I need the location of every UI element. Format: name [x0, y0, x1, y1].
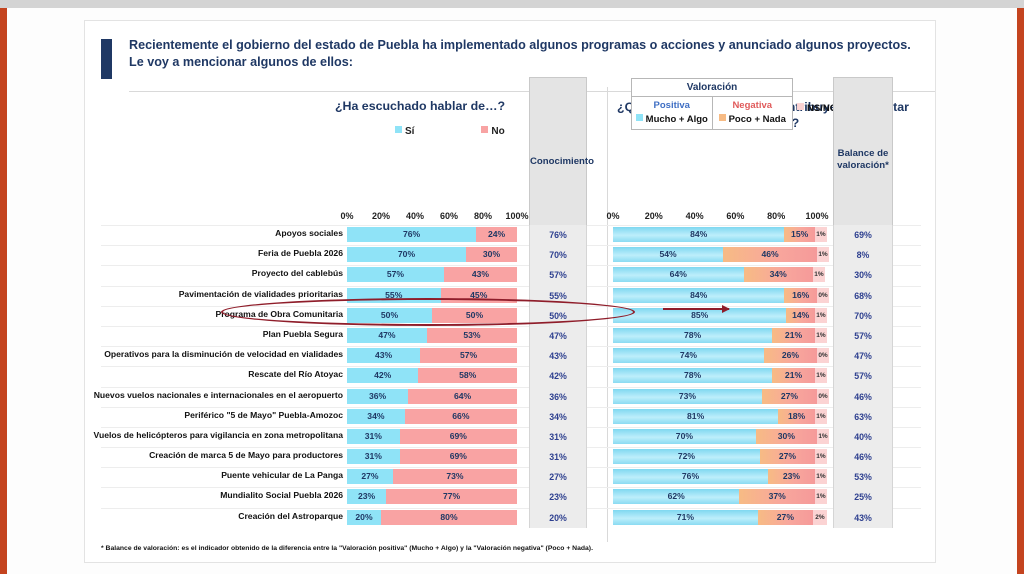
cell-conocimiento: 31% [529, 447, 587, 467]
row-divider [101, 346, 921, 347]
bar-valoracion: 62%37%1% [613, 489, 817, 504]
bar-segment-no: 73% [393, 469, 517, 484]
row-label: Creación de marca 5 de Mayo para product… [93, 450, 343, 460]
row-label: Creación del Astroparque [93, 511, 343, 521]
row-label: Vuelos de helicópteros para vigilancia e… [93, 430, 343, 440]
bar-segment-negativa: 37% [739, 489, 814, 504]
row-divider [101, 286, 921, 287]
valoracion-legend-box: Valoración Positiva Mucho + Algo Negativ… [631, 78, 793, 130]
cell-conocimiento: 47% [529, 326, 587, 346]
row-divider [101, 245, 921, 246]
bar-valoracion: 76%23%1% [613, 469, 817, 484]
legend-label-si: Sí [405, 126, 414, 137]
table-row: Plan Puebla Segura47%53%47%78%21%1%57% [85, 326, 937, 346]
cell-balance: 40% [833, 427, 893, 447]
bar-segment-nsnc: 1% [815, 489, 827, 504]
legend-item-si: Sí [395, 126, 414, 137]
bar-valoracion: 71%27%2% [613, 510, 817, 525]
slide: Recientemente el gobierno del estado de … [84, 20, 936, 563]
cell-balance: 57% [833, 366, 893, 386]
bar-segment-no: 30% [466, 247, 517, 262]
bar-segment-positiva: 54% [613, 247, 723, 262]
bar-segment-positiva: 70% [613, 429, 756, 444]
bar-segment-negativa: 16% [784, 288, 817, 303]
cell-balance: 53% [833, 467, 893, 487]
cell-conocimiento: 34% [529, 407, 587, 427]
row-divider [101, 326, 921, 327]
cell-balance: 57% [833, 326, 893, 346]
axis-tick: 40% [686, 211, 704, 221]
bar-valoracion: 74%26%0% [613, 348, 817, 363]
axis-right: 0%20%40%60%80%100% [613, 211, 817, 223]
bar-segment-si: 43% [347, 348, 420, 363]
table-row: Operativos para la disminución de veloci… [85, 346, 937, 366]
bar-segment-si: 57% [347, 267, 444, 282]
row-divider [101, 265, 921, 266]
bar-segment-si: 27% [347, 469, 393, 484]
bar-segment-no: 66% [405, 409, 517, 424]
bar-segment-no: 69% [400, 429, 517, 444]
row-divider [101, 306, 921, 307]
bar-segment-negativa: 27% [760, 449, 815, 464]
bar-segment-nsnc: 1% [815, 409, 827, 424]
cell-conocimiento: 31% [529, 427, 587, 447]
axis-tick: 0% [340, 211, 353, 221]
axis-left: 0%20%40%60%80%100% [347, 211, 517, 223]
bar-segment-negativa: 15% [784, 227, 815, 242]
swatch-no-icon [481, 126, 488, 133]
bar-segment-positiva: 76% [613, 469, 768, 484]
cell-conocimiento: 27% [529, 467, 587, 487]
legend-item-no: No [481, 126, 504, 137]
bar-segment-nsnc: 1% [813, 267, 825, 282]
row-label: Puente vehicular de La Panga [93, 470, 343, 480]
bar-segment-nsnc: 1% [815, 328, 827, 343]
row-label: Nuevos vuelos nacionales e internacional… [93, 390, 343, 400]
bar-segment-no: 77% [386, 489, 517, 504]
bar-segment-positiva: 78% [613, 328, 772, 343]
slide-header: Recientemente el gobierno del estado de … [101, 37, 921, 87]
bar-segment-negativa: 21% [772, 368, 815, 383]
table-row: Mundialito Social Puebla 202623%77%23%62… [85, 487, 937, 507]
bar-segment-negativa: 23% [768, 469, 815, 484]
bar-segment-si: 50% [347, 308, 432, 323]
swatch-si-icon [395, 126, 402, 133]
row-divider [101, 427, 921, 428]
bar-awareness: 70%30% [347, 247, 517, 262]
bar-segment-no: 58% [418, 368, 517, 383]
valoracion-negativa-label: Poco + Nada [715, 114, 791, 125]
cell-conocimiento: 36% [529, 387, 587, 407]
bar-valoracion: 70%30%1% [613, 429, 817, 444]
bar-segment-si: 31% [347, 449, 400, 464]
bar-segment-negativa: 34% [744, 267, 813, 282]
axis-tick: 20% [372, 211, 390, 221]
valoracion-positiva-label: Mucho + Algo [634, 114, 710, 125]
cell-conocimiento: 23% [529, 487, 587, 507]
bar-segment-si: 31% [347, 429, 400, 444]
footnote: * Balance de valoración: es el indicador… [101, 545, 917, 552]
screenshot-root: Recientemente el gobierno del estado de … [0, 0, 1024, 574]
bar-segment-positiva: 84% [613, 288, 784, 303]
cell-balance: 47% [833, 346, 893, 366]
bar-segment-positiva: 73% [613, 389, 762, 404]
valoracion-negativa: Negativa Poco + Nada [713, 97, 793, 129]
bar-valoracion: 72%27%1% [613, 449, 817, 464]
legend-label-no: No [491, 126, 504, 137]
bar-segment-si: 70% [347, 247, 466, 262]
bar-valoracion: 84%16%0% [613, 288, 817, 303]
header-accent-bar [101, 39, 112, 79]
cell-conocimiento: 57% [529, 265, 587, 285]
bar-segment-positiva: 84% [613, 227, 784, 242]
row-label: Rescate del Río Atoyac [93, 369, 343, 379]
bar-segment-nsnc: 1% [815, 469, 827, 484]
axis-tick: 80% [474, 211, 492, 221]
bar-awareness: 20%80% [347, 510, 517, 525]
highlight-arrow-annotation [663, 308, 729, 310]
bar-awareness: 36%64% [347, 389, 517, 404]
row-label: Operativos para la disminución de veloci… [93, 349, 343, 359]
chart-rows: Apoyos sociales76%24%76%84%15%1%69%Feria… [85, 225, 937, 528]
bar-valoracion: 81%18%1% [613, 409, 817, 424]
table-row: Feria de Puebla 202670%30%70%54%46%1%8% [85, 245, 937, 265]
row-label: Mundialito Social Puebla 2026 [93, 490, 343, 500]
axis-tick: 60% [440, 211, 458, 221]
row-divider [101, 447, 921, 448]
axis-tick: 40% [406, 211, 424, 221]
cell-balance: 8% [833, 245, 893, 265]
bar-segment-si: 20% [347, 510, 381, 525]
bar-segment-positiva: 64% [613, 267, 744, 282]
bar-awareness: 27%73% [347, 469, 517, 484]
bar-segment-no: 50% [432, 308, 517, 323]
bar-segment-negativa: 27% [758, 510, 813, 525]
axis-tick: 60% [726, 211, 744, 221]
cell-balance: 46% [833, 447, 893, 467]
table-row: Periférico "5 de Mayo" Puebla-Amozoc34%6… [85, 407, 937, 427]
bar-awareness: 55%45% [347, 288, 517, 303]
bar-segment-negativa: 27% [762, 389, 817, 404]
bar-segment-nsnc: 1% [817, 429, 829, 444]
bar-segment-si: 55% [347, 288, 441, 303]
table-row: Creación de marca 5 de Mayo para product… [85, 447, 937, 467]
table-row: Programa de Obra Comunitaria50%50%50%85%… [85, 306, 937, 326]
valoracion-positiva: Positiva Mucho + Algo [632, 97, 713, 129]
row-label: Periférico "5 de Mayo" Puebla-Amozoc [93, 410, 343, 420]
bar-segment-negativa: 46% [723, 247, 817, 262]
bar-segment-nsnc: 1% [815, 368, 827, 383]
page-title: Recientemente el gobierno del estado de … [129, 37, 919, 71]
bar-segment-si: 36% [347, 389, 408, 404]
row-label: Plan Puebla Segura [93, 329, 343, 339]
table-row: Nuevos vuelos nacionales e internacional… [85, 387, 937, 407]
bar-segment-nsnc: 1% [815, 449, 827, 464]
table-row: Creación del Astroparque20%80%20%71%27%2… [85, 508, 937, 528]
cell-balance: 30% [833, 265, 893, 285]
bar-awareness: 43%57% [347, 348, 517, 363]
cell-conocimiento: 76% [529, 225, 587, 245]
valoracion-negativa-head: Negativa [715, 100, 791, 111]
row-divider [101, 225, 921, 226]
bar-segment-si: 42% [347, 368, 418, 383]
bar-segment-positiva: 72% [613, 449, 760, 464]
row-divider [101, 407, 921, 408]
table-row: Puente vehicular de La Panga27%73%27%76%… [85, 467, 937, 487]
bar-segment-si: 23% [347, 489, 386, 504]
row-divider [101, 508, 921, 509]
bar-awareness: 31%69% [347, 429, 517, 444]
table-row: Proyecto del cablebús57%43%57%64%34%1%30… [85, 265, 937, 285]
row-divider [101, 467, 921, 468]
bar-segment-no: 24% [476, 227, 517, 242]
cell-balance: 46% [833, 387, 893, 407]
cell-conocimiento: 20% [529, 508, 587, 528]
bar-segment-no: 57% [420, 348, 517, 363]
bar-segment-positiva: 71% [613, 510, 758, 525]
bar-segment-negativa: 26% [764, 348, 817, 363]
cell-balance: 63% [833, 407, 893, 427]
axis-tick: 20% [645, 211, 663, 221]
cell-conocimiento: 43% [529, 346, 587, 366]
bar-awareness: 76%24% [347, 227, 517, 242]
bar-segment-positiva: 74% [613, 348, 764, 363]
bar-segment-si: 76% [347, 227, 476, 242]
bar-awareness: 47%53% [347, 328, 517, 343]
bar-segment-nsnc: 0% [817, 389, 829, 404]
cell-conocimiento: 55% [529, 286, 587, 306]
cell-conocimiento: 42% [529, 366, 587, 386]
bar-segment-no: 64% [408, 389, 517, 404]
row-label: Feria de Puebla 2026 [93, 248, 343, 258]
bar-awareness: 23%77% [347, 489, 517, 504]
bar-segment-nsnc: 1% [815, 308, 827, 323]
table-row: Pavimentación de vialidades prioritarias… [85, 286, 937, 306]
row-label: Pavimentación de vialidades prioritarias [93, 289, 343, 299]
row-label: Proyecto del cablebús [93, 268, 343, 278]
bar-valoracion: 78%21%1% [613, 368, 817, 383]
cell-balance: 25% [833, 487, 893, 507]
axis-tick: 100% [505, 211, 528, 221]
cell-conocimiento: 50% [529, 306, 587, 326]
valoracion-title: Valoración [632, 79, 792, 97]
bar-segment-si: 34% [347, 409, 405, 424]
cell-conocimiento: 70% [529, 245, 587, 265]
bar-segment-nsnc: 0% [817, 288, 829, 303]
bar-segment-positiva: 78% [613, 368, 772, 383]
swatch-positiva-icon [636, 114, 643, 121]
bar-segment-nsnc: 1% [815, 227, 827, 242]
axis-tick: 80% [767, 211, 785, 221]
bar-segment-negativa: 30% [756, 429, 817, 444]
bar-segment-no: 45% [441, 288, 518, 303]
bar-segment-nsnc: 0% [817, 348, 829, 363]
axis-tick: 100% [805, 211, 828, 221]
bar-awareness: 31%69% [347, 449, 517, 464]
bar-segment-no: 43% [444, 267, 517, 282]
bar-segment-nsnc: 2% [813, 510, 827, 525]
bar-valoracion: 85%14%1% [613, 308, 817, 323]
bar-segment-no: 53% [427, 328, 517, 343]
bar-valoracion: 54%46%1% [613, 247, 817, 262]
bar-segment-negativa: 21% [772, 328, 815, 343]
swatch-negativa-icon [719, 114, 726, 121]
legend-item-nsnc: NS/NC [797, 103, 837, 114]
cell-balance: 43% [833, 508, 893, 528]
row-divider [101, 366, 921, 367]
bar-segment-no: 69% [400, 449, 517, 464]
valoracion-positiva-head: Positiva [634, 100, 710, 111]
cell-balance: 68% [833, 286, 893, 306]
row-label: Apoyos sociales [93, 228, 343, 238]
bar-segment-positiva: 62% [613, 489, 739, 504]
row-divider [101, 387, 921, 388]
bar-segment-negativa: 14% [786, 308, 815, 323]
bar-valoracion: 73%27%0% [613, 389, 817, 404]
bar-segment-positiva: 85% [613, 308, 786, 323]
row-label: Programa de Obra Comunitaria [93, 309, 343, 319]
bar-segment-no: 80% [381, 510, 517, 525]
axis-tick: 0% [606, 211, 619, 221]
bar-awareness: 42%58% [347, 368, 517, 383]
bar-valoracion: 64%34%1% [613, 267, 817, 282]
bar-awareness: 50%50% [347, 308, 517, 323]
table-row: Rescate del Río Atoyac42%58%42%78%21%1%5… [85, 366, 937, 386]
bar-segment-positiva: 81% [613, 409, 778, 424]
swatch-nsnc-icon [797, 103, 804, 110]
bar-segment-nsnc: 1% [817, 247, 829, 262]
cell-balance: 69% [833, 225, 893, 245]
bar-segment-negativa: 18% [778, 409, 815, 424]
bar-valoracion: 78%21%1% [613, 328, 817, 343]
bar-segment-si: 47% [347, 328, 427, 343]
table-row: Vuelos de helicópteros para vigilancia e… [85, 427, 937, 447]
bar-valoracion: 84%15%1% [613, 227, 817, 242]
cell-balance: 70% [833, 306, 893, 326]
row-divider [101, 487, 921, 488]
bar-awareness: 57%43% [347, 267, 517, 282]
bar-awareness: 34%66% [347, 409, 517, 424]
table-row: Apoyos sociales76%24%76%84%15%1%69% [85, 225, 937, 245]
